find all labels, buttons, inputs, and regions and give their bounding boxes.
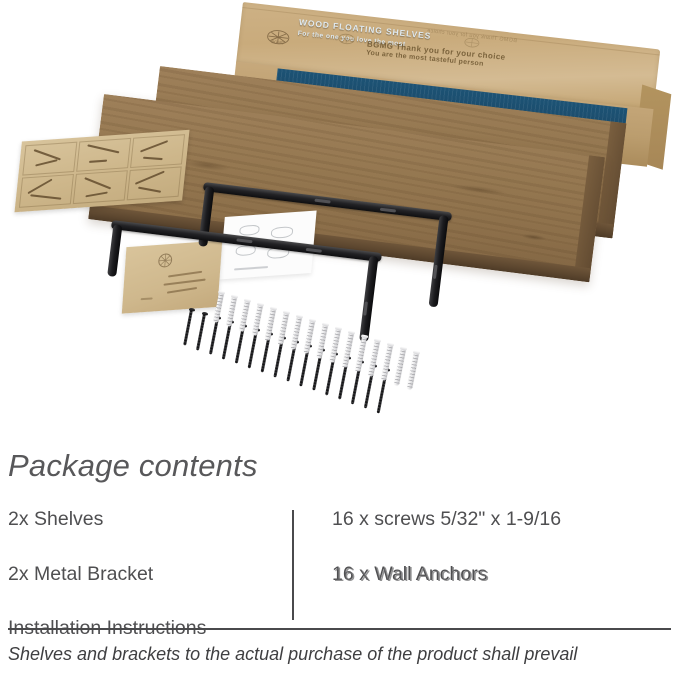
brand-logo-icon: BGMG bbox=[260, 26, 296, 48]
product-photo: WOOD FLOATING SHELVES For the one you lo… bbox=[0, 0, 679, 432]
package-contents-section: Package contents 2x Shelves 2x Metal Bra… bbox=[0, 432, 679, 677]
contents-right-column: 16 x screws 5/32" x 1-9/16 16 x Wall Anc… bbox=[332, 510, 672, 584]
section-divider-rule bbox=[8, 628, 671, 630]
disclaimer-text: Shelves and brackets to the actual purch… bbox=[8, 644, 577, 665]
contents-item-shelves: 2x Shelves bbox=[8, 510, 288, 530]
contents-item-wall-anchors-text: 16 x Wall Anchors bbox=[332, 565, 487, 585]
brand-logo-tiny-icon bbox=[461, 36, 482, 49]
contents-item-wall-anchors: 16 x Wall Anchors bbox=[332, 565, 672, 585]
svg-text:BGMG: BGMG bbox=[271, 39, 284, 45]
brand-logo-small-icon bbox=[335, 32, 358, 46]
contents-item-metal-bracket: 2x Metal Bracket bbox=[8, 565, 288, 585]
page-title: Package contents bbox=[8, 448, 258, 484]
installation-instruction-sheet bbox=[14, 130, 189, 212]
column-divider bbox=[292, 510, 294, 620]
contents-item-screws: 16 x screws 5/32" x 1-9/16 bbox=[332, 510, 672, 530]
